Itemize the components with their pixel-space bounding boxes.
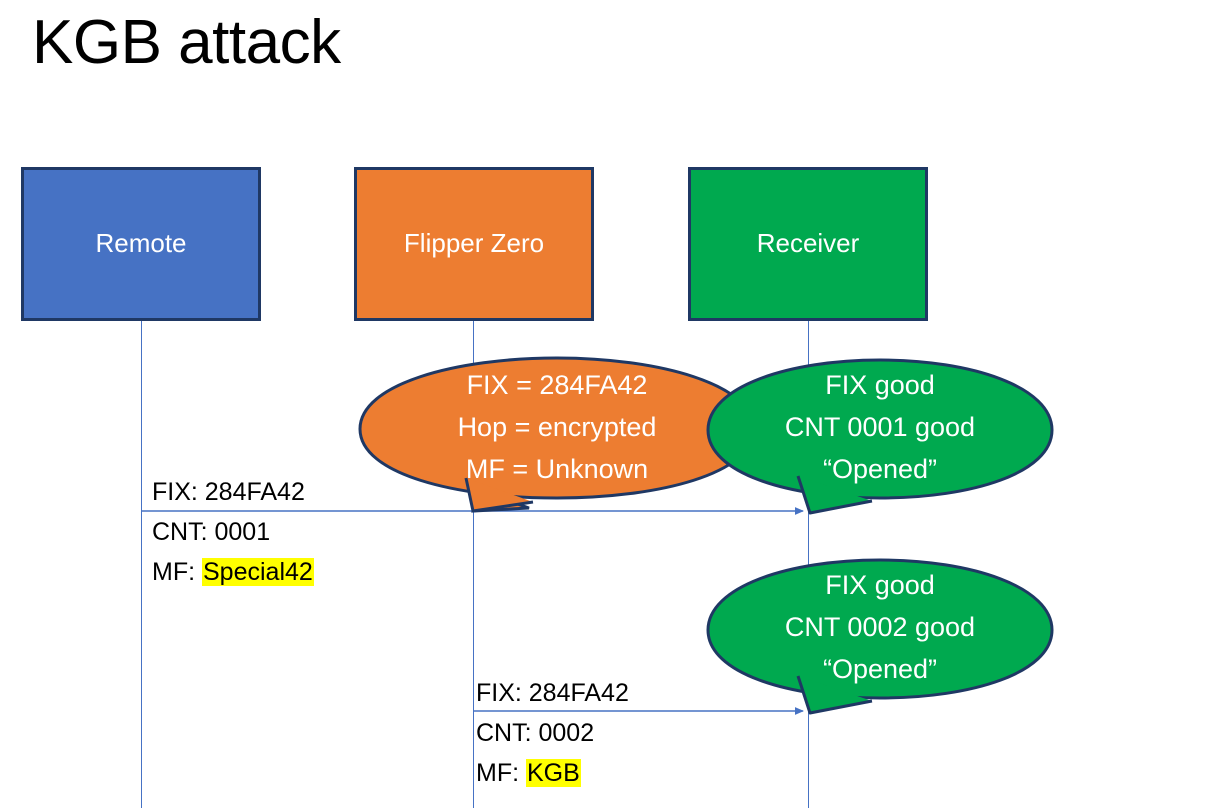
message-1-line-cnt: CNT: 0001 — [152, 512, 314, 552]
speech-bubble-green-2-text: FIX good CNT 0002 good “Opened” — [706, 564, 1054, 690]
speech-bubble-orange-text: FIX = 284FA42 Hop = encrypted MF = Unkno… — [358, 364, 756, 490]
bubble-line-1: FIX good — [706, 364, 1054, 406]
bubble-line-3: “Opened” — [706, 648, 1054, 690]
speech-bubble-receiver-reply-1: FIX good CNT 0001 good “Opened” — [706, 358, 1054, 516]
lifeline-remote — [141, 321, 142, 808]
speech-bubble-receiver-reply-2: FIX good CNT 0002 good “Opened” — [706, 558, 1054, 716]
actor-label-flipper-zero: Flipper Zero — [404, 228, 544, 259]
bubble-line-1: FIX = 284FA42 — [358, 364, 756, 406]
speech-bubble-green-1-text: FIX good CNT 0001 good “Opened” — [706, 364, 1054, 490]
message-label-2: FIX: 284FA42 CNT: 0002 MF: KGB — [476, 673, 629, 793]
bubble-line-3: MF = Unknown — [358, 448, 756, 490]
message-1-line-mf: MF: Special42 — [152, 552, 314, 592]
message-2-mf-highlight: KGB — [526, 759, 581, 787]
message-1-mf-prefix: MF: — [152, 558, 202, 586]
actor-box-remote[interactable]: Remote — [21, 167, 261, 321]
message-2-line-mf: MF: KGB — [476, 753, 629, 793]
message-2-mf-prefix: MF: — [476, 759, 526, 787]
bubble-line-1: FIX good — [706, 564, 1054, 606]
message-1-mf-highlight: Special42 — [202, 558, 314, 586]
actor-box-flipper-zero[interactable]: Flipper Zero — [354, 167, 594, 321]
actor-label-remote: Remote — [95, 228, 186, 259]
slide-canvas: KGB attack Remote Flipper Zero Receiver … — [0, 0, 1218, 808]
message-2-line-cnt: CNT: 0002 — [476, 713, 629, 753]
actor-box-receiver[interactable]: Receiver — [688, 167, 928, 321]
bubble-line-2: CNT 0002 good — [706, 606, 1054, 648]
speech-bubble-flipper-capture: FIX = 284FA42 Hop = encrypted MF = Unkno… — [358, 356, 756, 516]
message-label-1: FIX: 284FA42 CNT: 0001 MF: Special42 — [152, 472, 314, 592]
message-1-line-fix: FIX: 284FA42 — [152, 472, 314, 512]
message-2-line-fix: FIX: 284FA42 — [476, 673, 629, 713]
bubble-line-2: CNT 0001 good — [706, 406, 1054, 448]
actor-label-receiver: Receiver — [757, 228, 860, 259]
bubble-line-2: Hop = encrypted — [358, 406, 756, 448]
bubble-line-3: “Opened” — [706, 448, 1054, 490]
page-title: KGB attack — [32, 8, 341, 77]
